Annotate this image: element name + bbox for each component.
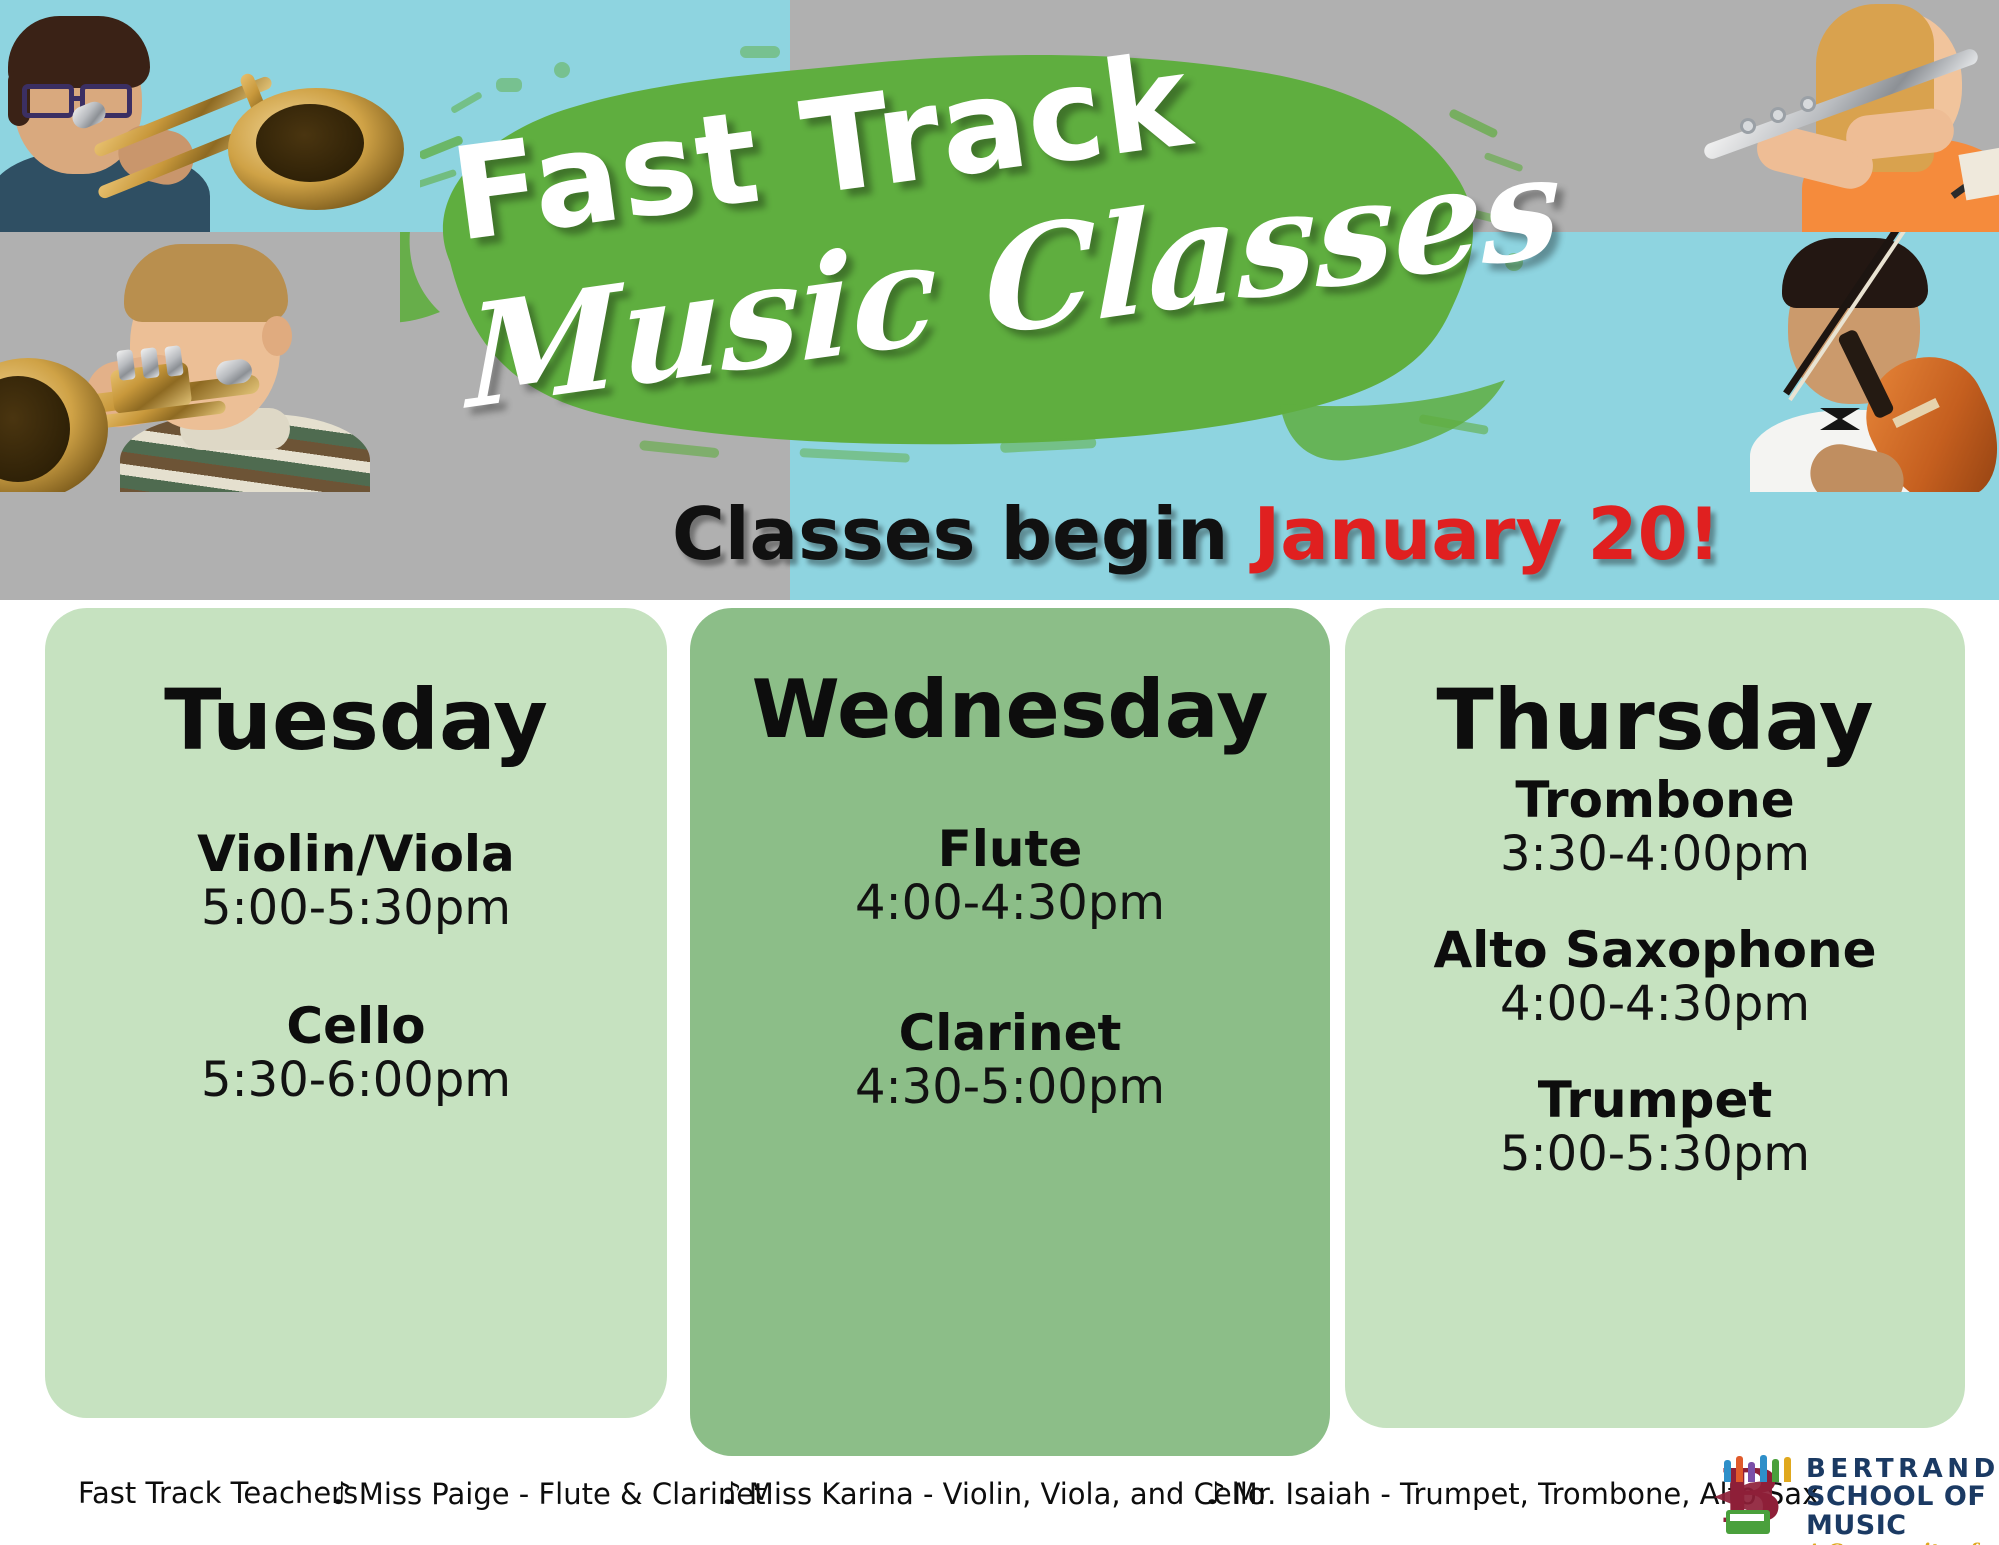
class-name: Trumpet — [1363, 1072, 1947, 1128]
music-note-icon: ♪ — [332, 1476, 352, 1512]
logo-line-2: SCHOOL OF MUSIC — [1806, 1483, 1999, 1540]
poster-title: Fast Track Music Classes — [440, 30, 1440, 390]
logo-musician-figures-icon — [1722, 1452, 1800, 1482]
music-stand-sheet — [1958, 146, 1999, 201]
logo-piano-icon — [1726, 1510, 1770, 1534]
class-name: Cello — [63, 998, 649, 1054]
logo-figure — [1784, 1457, 1791, 1482]
teacher-name: Miss Karina - Violin, Viola, and Cello — [749, 1477, 1266, 1511]
class-item: Trumpet 5:00-5:30pm — [1363, 1072, 1947, 1182]
day-card-thursday[interactable]: Thursday Trombone 3:30-4:00pm Alto Saxop… — [1345, 608, 1965, 1428]
day-title-wednesday: Wednesday — [708, 668, 1312, 751]
logo-wordmark: BERTRAND'S SCHOOL OF MUSIC A Community o… — [1806, 1456, 1999, 1545]
class-time: 4:00-4:30pm — [708, 877, 1312, 931]
teacher-name: Miss Paige - Flute & Clarinet — [359, 1477, 766, 1511]
photo-boy-trumpet — [0, 232, 400, 492]
class-name: Violin/Viola — [63, 826, 649, 882]
teacher-credit: ♪Miss Karina - Violin, Viola, and Cello — [722, 1476, 1266, 1512]
class-item: Cello 5:30-6:00pm — [63, 998, 649, 1108]
class-time: 5:00-5:30pm — [1363, 1128, 1947, 1182]
class-time: 4:30-5:00pm — [708, 1061, 1312, 1115]
logo-line-1: BERTRAND'S — [1806, 1456, 1999, 1483]
class-name: Trombone — [1363, 772, 1947, 828]
teacher-credit: ♪Miss Paige - Flute & Clarinet — [332, 1476, 766, 1512]
music-note-icon: ♪ — [1206, 1476, 1226, 1512]
class-item: Trombone 3:30-4:00pm — [1363, 772, 1947, 882]
class-item: Alto Saxophone 4:00-4:30pm — [1363, 922, 1947, 1032]
photo-boy-trombone — [0, 0, 420, 232]
class-name: Flute — [708, 821, 1312, 877]
bertrands-school-of-music-logo[interactable]: B BERTRAND'S SCHOOL OF MUSIC A Community… — [1718, 1452, 1980, 1538]
trumpet-boy-ear — [262, 316, 292, 356]
class-item: Flute 4:00-4:30pm — [708, 821, 1312, 931]
class-time: 5:30-6:00pm — [63, 1054, 649, 1108]
trombone-boy-glasses-left — [22, 84, 74, 118]
logo-figure — [1760, 1455, 1767, 1482]
teachers-label: Fast Track Teachers — [78, 1476, 358, 1510]
class-name: Clarinet — [708, 1005, 1312, 1061]
logo-figure — [1736, 1456, 1743, 1482]
header-banner: Fast Track Music Classes Classes begin J… — [0, 0, 1999, 600]
logo-figure — [1724, 1460, 1731, 1482]
day-title-tuesday: Tuesday — [63, 677, 649, 764]
poster: Fast Track Music Classes Classes begin J… — [0, 0, 1999, 1545]
classes-begin-date: January 20! — [1253, 492, 1720, 576]
classes-begin-line: Classes begin January 20! — [672, 492, 1721, 576]
class-list-wednesday: Flute 4:00-4:30pm Clarinet 4:30-5:00pm — [708, 821, 1312, 1115]
trombone-boy-glasses-bridge — [74, 96, 82, 101]
class-item: Violin/Viola 5:00-5:30pm — [63, 826, 649, 936]
trumpet-boy-hair — [124, 244, 288, 322]
day-card-wednesday[interactable]: Wednesday Flute 4:00-4:30pm Clarinet 4:3… — [690, 608, 1330, 1456]
class-list-tuesday: Violin/Viola 5:00-5:30pm Cello 5:30-6:00… — [63, 826, 649, 1108]
trombone-bell-opening — [256, 104, 364, 182]
day-card-tuesday[interactable]: Tuesday Violin/Viola 5:00-5:30pm Cello 5… — [45, 608, 667, 1418]
schedule-cards: Tuesday Violin/Viola 5:00-5:30pm Cello 5… — [0, 608, 1999, 1458]
logo-figure — [1772, 1459, 1779, 1482]
class-item: Clarinet 4:30-5:00pm — [708, 1005, 1312, 1115]
photo-boy-violin — [1660, 232, 1999, 492]
class-time: 5:00-5:30pm — [63, 882, 649, 936]
class-time: 3:30-4:00pm — [1363, 828, 1947, 882]
class-list-thursday: Trombone 3:30-4:00pm Alto Saxophone 4:00… — [1363, 772, 1947, 1181]
logo-tagline: A Community of Musicians — [1806, 1541, 1999, 1545]
class-name: Alto Saxophone — [1363, 922, 1947, 978]
violin-boy-hair — [1782, 238, 1928, 308]
photo-girl-flute — [1670, 0, 1999, 232]
classes-begin-prefix: Classes begin — [672, 492, 1253, 576]
music-note-icon: ♪ — [722, 1476, 742, 1512]
logo-figure — [1748, 1462, 1755, 1482]
class-time: 4:00-4:30pm — [1363, 978, 1947, 1032]
day-title-thursday: Thursday — [1363, 677, 1947, 764]
